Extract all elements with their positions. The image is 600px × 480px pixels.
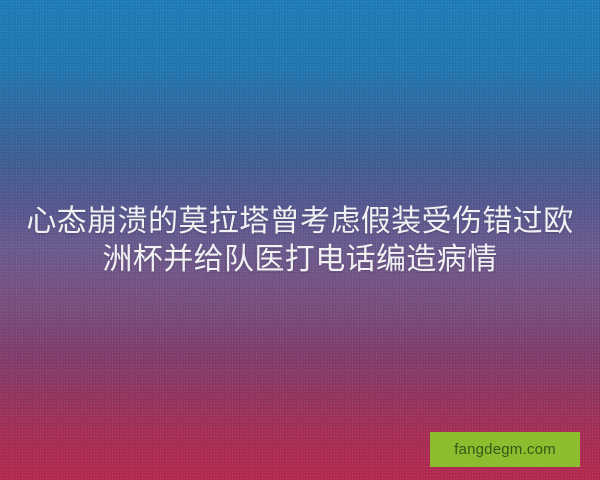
headline-line-2: 洲杯并给队医打电话编造病情 — [14, 241, 586, 279]
headline-line-1: 心态崩溃的莫拉塔曾考虑假装受伤错过欧 — [14, 203, 586, 241]
image-canvas: 心态崩溃的莫拉塔曾考虑假装受伤错过欧 洲杯并给队医打电话编造病情 fangdeg… — [0, 0, 600, 480]
watermark-badge: fangdegm.com — [430, 432, 580, 467]
watermark-label: fangdegm.com — [454, 442, 556, 457]
headline-text: 心态崩溃的莫拉塔曾考虑假装受伤错过欧 洲杯并给队医打电话编造病情 — [0, 203, 600, 279]
